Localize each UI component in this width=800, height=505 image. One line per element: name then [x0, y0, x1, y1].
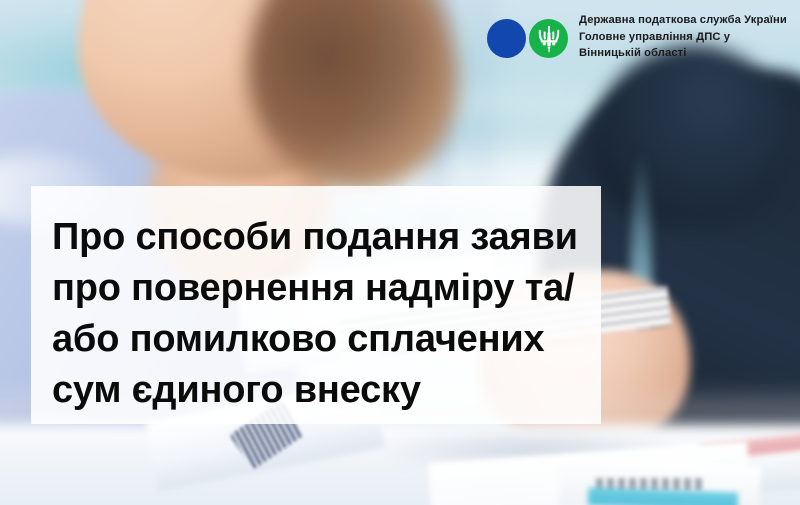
headline-panel: Про способи подання заяви про повернення…	[31, 186, 601, 424]
agency-name-line-1: Державна податкова служба України	[579, 12, 787, 29]
brand-block: Державна податкова служба України Головн…	[487, 12, 787, 62]
agency-name-line-3: Вінницькій області	[579, 45, 787, 62]
agency-name-line-2: Головне управління ДПС у	[579, 29, 787, 46]
headline-line-1: Про способи подання заяви	[52, 212, 581, 263]
blue-circle-mark	[487, 19, 526, 58]
agency-logo	[487, 19, 568, 58]
headline-line-3: або помилково сплачених	[52, 314, 581, 365]
agency-name: Державна податкова служба України Головн…	[579, 12, 787, 62]
headline-line-4: сум єдиного внеску	[52, 365, 581, 416]
page-title: Про способи подання заяви про повернення…	[52, 212, 581, 416]
headline-line-2: про повернення надміру та/	[52, 263, 581, 314]
announcement-banner: Державна податкова служба України Головн…	[0, 0, 800, 505]
ukrainian-trident-icon	[529, 19, 568, 58]
